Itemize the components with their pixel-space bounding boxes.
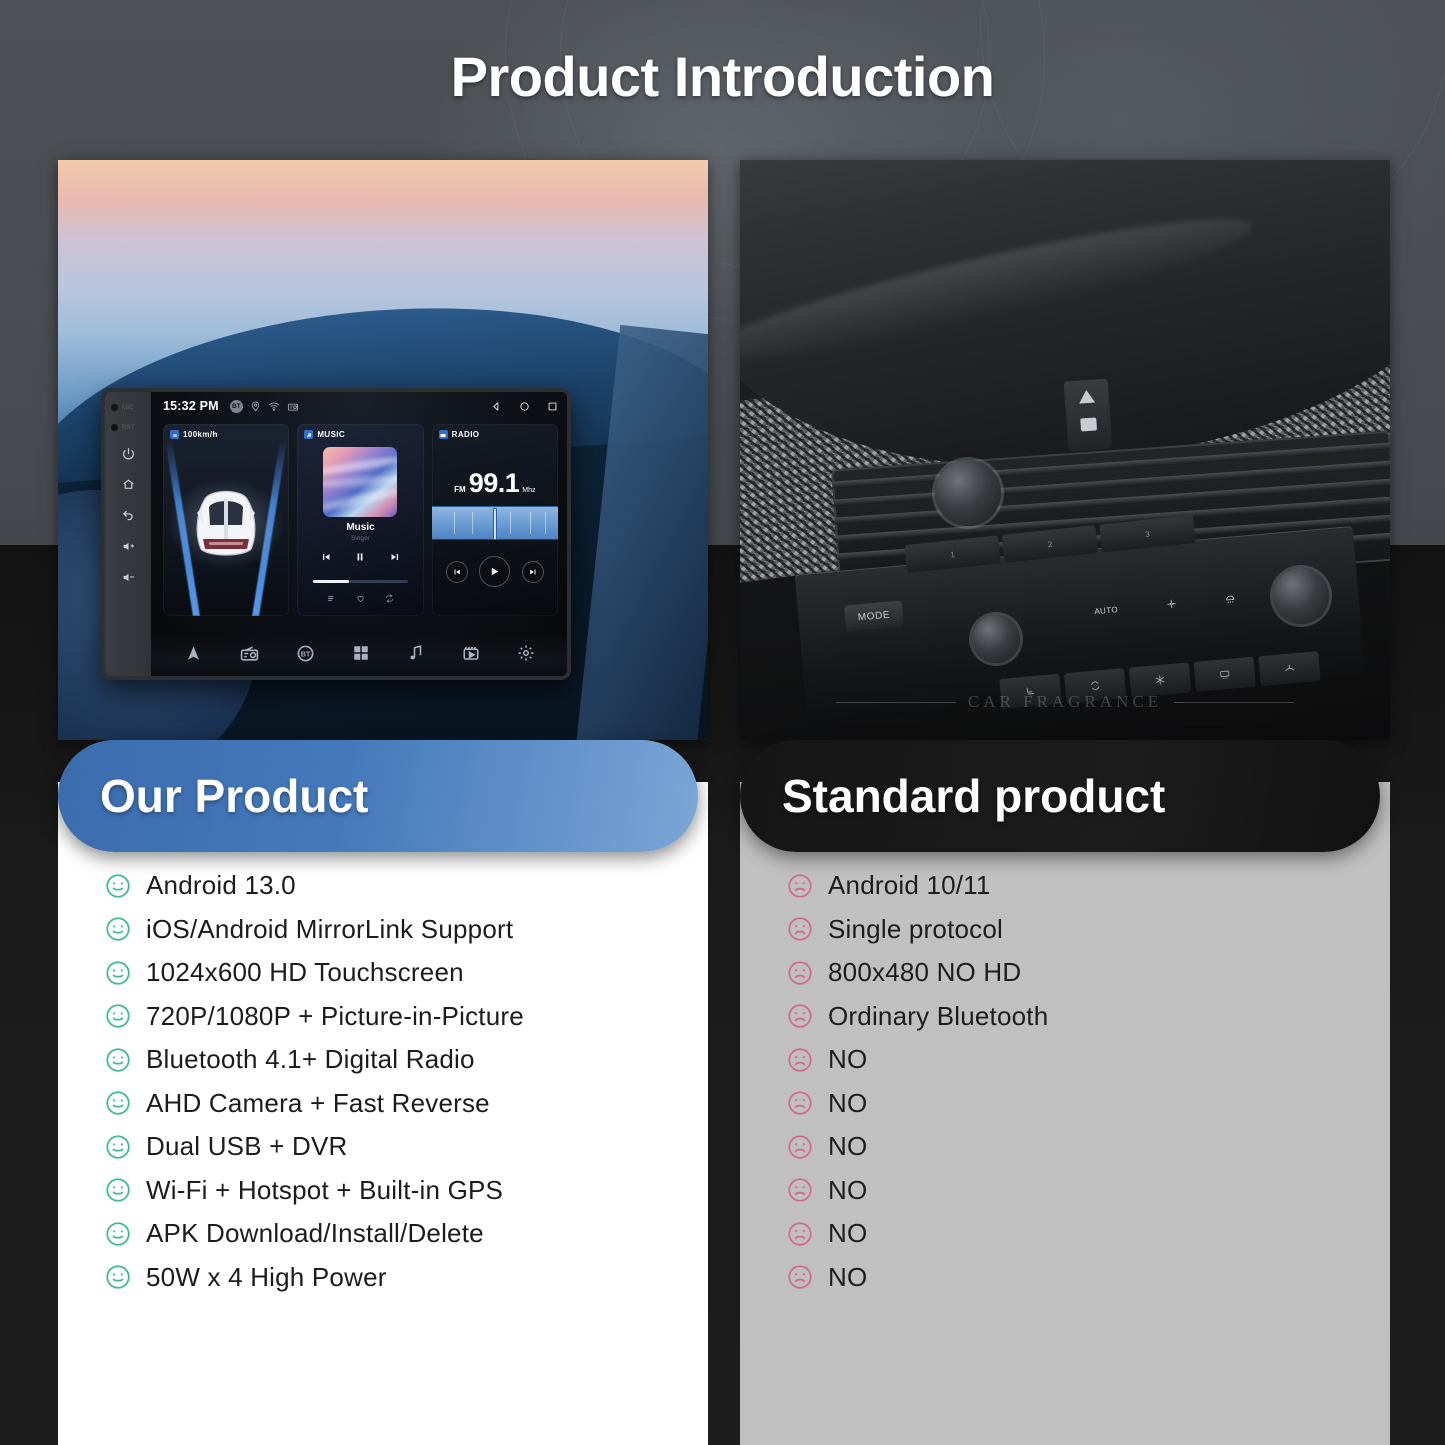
fan-icon [1165, 597, 1177, 611]
track-title: Music [297, 522, 423, 533]
mic-label: MIC [122, 405, 134, 411]
reset-indicator[interactable]: RST [109, 424, 147, 431]
back-icon[interactable] [117, 506, 139, 524]
apps-grid-icon[interactable] [352, 644, 370, 662]
tuning-band[interactable] [432, 506, 558, 540]
volume-up-icon[interactable] [117, 537, 139, 555]
feature-label: NO [828, 1131, 867, 1162]
radio-widget[interactable]: RADIO FM 99.1 Mhz [432, 424, 558, 616]
wifi-icon [268, 400, 281, 413]
list-item: 800x480 NO HD [786, 951, 1390, 995]
list-item: Dual USB + DVR [104, 1125, 708, 1169]
list-item: Android 13.0 [104, 864, 708, 908]
mode-button[interactable]: MODE [844, 601, 904, 632]
navigation-icon[interactable] [184, 644, 203, 663]
infographic-page: Product Introduction MIC RST [0, 0, 1445, 1445]
watermark-text: CAR FRAGRANCE [968, 692, 1162, 712]
standard-product-banner: Standard product [740, 740, 1380, 852]
feature-label: NO [828, 1175, 867, 1206]
frown-icon [786, 1263, 814, 1291]
feature-label: NO [828, 1262, 867, 1293]
car-illustration [185, 477, 267, 563]
list-item: NO [786, 1169, 1390, 1213]
radio-controls[interactable] [432, 556, 558, 587]
feature-label: Android 13.0 [146, 870, 296, 901]
smile-icon [104, 1002, 132, 1030]
lock-icon [1080, 417, 1097, 431]
status-time: 15:32 PM [163, 399, 219, 413]
list-item: Single protocol [786, 908, 1390, 952]
android-nav-bar[interactable] [491, 401, 558, 412]
settings-gear-icon[interactable] [517, 644, 535, 662]
rear-defrost-icon[interactable] [1194, 657, 1256, 692]
list-item: Ordinary Bluetooth [786, 995, 1390, 1039]
hazard-button[interactable] [1064, 379, 1113, 452]
frown-icon [786, 1176, 814, 1204]
list-item: NO [786, 1212, 1390, 1256]
home-circle-icon[interactable] [519, 401, 530, 412]
play-icon[interactable] [479, 556, 510, 587]
head-unit-screen[interactable]: 15:32 PM BT [151, 392, 567, 676]
music-widget-title: MUSIC [304, 430, 345, 439]
radio-band: FM [454, 485, 466, 494]
list-item: Bluetooth 4.1+ Digital Radio [104, 1038, 708, 1082]
smile-icon [104, 872, 132, 900]
music-footer-icons[interactable] [297, 594, 423, 605]
bluetooth-icon: BT [230, 400, 243, 413]
frown-icon [786, 1220, 814, 1248]
list-item: 50W x 4 High Power [104, 1256, 708, 1300]
feature-label: 800x480 NO HD [828, 957, 1021, 988]
frown-icon [786, 959, 814, 987]
playlist-icon[interactable] [327, 594, 336, 605]
head-unit: MIC RST [101, 388, 571, 680]
head-unit-bezel: MIC RST [105, 392, 151, 676]
frown-icon [786, 1089, 814, 1117]
favorite-icon[interactable] [356, 594, 365, 605]
radio-icon[interactable] [240, 644, 259, 663]
home-icon[interactable] [117, 475, 139, 493]
back-triangle-icon[interactable] [491, 401, 502, 412]
feature-label: NO [828, 1088, 867, 1119]
next-icon[interactable] [389, 550, 401, 568]
watermark: CAR FRAGRANCE [740, 692, 1390, 712]
mic-indicator: MIC [109, 404, 147, 411]
radio-icon [287, 400, 300, 413]
hazard-triangle-icon [1078, 390, 1095, 404]
airflow-icon[interactable] [1258, 651, 1320, 686]
status-icons: BT [230, 400, 300, 413]
tuning-needle[interactable] [493, 508, 497, 540]
feature-label: Single protocol [828, 914, 1003, 945]
center-knob[interactable] [935, 460, 1001, 526]
radio-frequency-value: 99.1 [469, 468, 520, 499]
list-item: Wi-Fi + Hotspot + Built-in GPS [104, 1169, 708, 1213]
mode-knob[interactable] [972, 615, 1020, 663]
smile-icon [104, 1263, 132, 1291]
frown-icon [786, 915, 814, 943]
widget-row: 100km/h [151, 420, 567, 616]
smile-icon [104, 1089, 132, 1117]
power-icon[interactable] [117, 444, 139, 462]
our-product-photo: MIC RST [58, 160, 708, 740]
feature-label: Ordinary Bluetooth [828, 1001, 1048, 1032]
location-icon [249, 400, 262, 413]
feature-label: iOS/Android MirrorLink Support [146, 914, 513, 945]
list-item: APK Download/Install/Delete [104, 1212, 708, 1256]
reset-label: RST [122, 425, 135, 431]
car-speed-widget[interactable]: 100km/h [163, 424, 289, 616]
standard-product-column: 1 2 3 MODE AUTO [740, 160, 1390, 740]
smile-icon [104, 1046, 132, 1074]
auto-label: AUTO [1094, 605, 1118, 616]
radio-frequency-unit: Mhz [522, 487, 535, 494]
feature-label: APK Download/Install/Delete [146, 1218, 484, 1249]
feature-label: AHD Camera + Fast Reverse [146, 1088, 490, 1119]
music-widget[interactable]: MUSIC Music Singer [297, 424, 423, 616]
feature-label: Dual USB + DVR [146, 1131, 347, 1162]
list-item: NO [786, 1082, 1390, 1126]
svg-text:BT: BT [300, 650, 310, 658]
track-artist: Singer [297, 535, 423, 542]
list-item: 720P/1080P + Picture-in-Picture [104, 995, 708, 1039]
list-item: Android 10/11 [786, 864, 1390, 908]
list-item: 1024x600 HD Touchscreen [104, 951, 708, 995]
smile-icon [104, 1220, 132, 1248]
album-art [323, 447, 397, 517]
feature-label: NO [828, 1218, 867, 1249]
repeat-icon[interactable] [385, 594, 394, 605]
video-icon[interactable] [462, 644, 480, 662]
radio-frequency: FM 99.1 Mhz [432, 468, 558, 499]
car-icon [170, 430, 179, 439]
previous-icon[interactable] [320, 550, 332, 568]
music-label: MUSIC [317, 430, 345, 439]
frown-icon [786, 1046, 814, 1074]
music-note-icon[interactable] [407, 644, 425, 662]
app-dock[interactable]: BT [151, 634, 567, 676]
feature-label: 1024x600 HD Touchscreen [146, 957, 464, 988]
leather-highlight [740, 197, 1259, 381]
frown-icon [786, 872, 814, 900]
progress-bar[interactable] [313, 580, 407, 583]
standard-product-feature-card: Android 10/11 Single protocol 800x480 NO… [740, 782, 1390, 1445]
defrost-icon [1224, 592, 1236, 606]
our-product-column: MIC RST [58, 160, 708, 740]
our-product-banner: Our Product [58, 740, 698, 852]
standard-product-photo: 1 2 3 MODE AUTO [740, 160, 1390, 740]
feature-label: Android 10/11 [828, 870, 991, 901]
status-bar: 15:32 PM BT [151, 392, 567, 420]
music-controls[interactable] [297, 550, 423, 568]
list-item: NO [786, 1125, 1390, 1169]
frown-icon [786, 1133, 814, 1161]
radio-widget-title: RADIO [439, 430, 480, 439]
bluetooth-icon[interactable]: BT [296, 644, 315, 663]
our-product-feature-card: Android 13.0 iOS/Android MirrorLink Supp… [58, 782, 708, 1445]
feature-label: 720P/1080P + Picture-in-Picture [146, 1001, 524, 1032]
previous-icon[interactable] [446, 561, 468, 583]
feature-label: NO [828, 1044, 867, 1075]
smile-icon [104, 1133, 132, 1161]
pause-icon[interactable] [354, 550, 366, 568]
smile-icon [104, 915, 132, 943]
max-ac-knob[interactable] [1273, 568, 1329, 624]
car-speed-widget-title: 100km/h [170, 430, 218, 439]
list-item: NO [786, 1256, 1390, 1300]
feature-label: Wi-Fi + Hotspot + Built-in GPS [146, 1175, 503, 1206]
frown-icon [786, 1002, 814, 1030]
feature-label: 50W x 4 High Power [146, 1262, 387, 1293]
list-item: AHD Camera + Fast Reverse [104, 1082, 708, 1126]
speed-label: 100km/h [183, 430, 218, 439]
music-app-icon [304, 430, 313, 439]
radio-label: RADIO [452, 430, 480, 439]
feature-label: Bluetooth 4.1+ Digital Radio [146, 1044, 475, 1075]
next-icon[interactable] [522, 561, 544, 583]
recents-square-icon[interactable] [547, 401, 558, 412]
list-item: NO [786, 1038, 1390, 1082]
radio-app-icon [439, 430, 448, 439]
page-title: Product Introduction [0, 44, 1445, 109]
smile-icon [104, 1176, 132, 1204]
volume-down-icon[interactable] [117, 568, 139, 586]
smile-icon [104, 959, 132, 987]
list-item: iOS/Android MirrorLink Support [104, 908, 708, 952]
